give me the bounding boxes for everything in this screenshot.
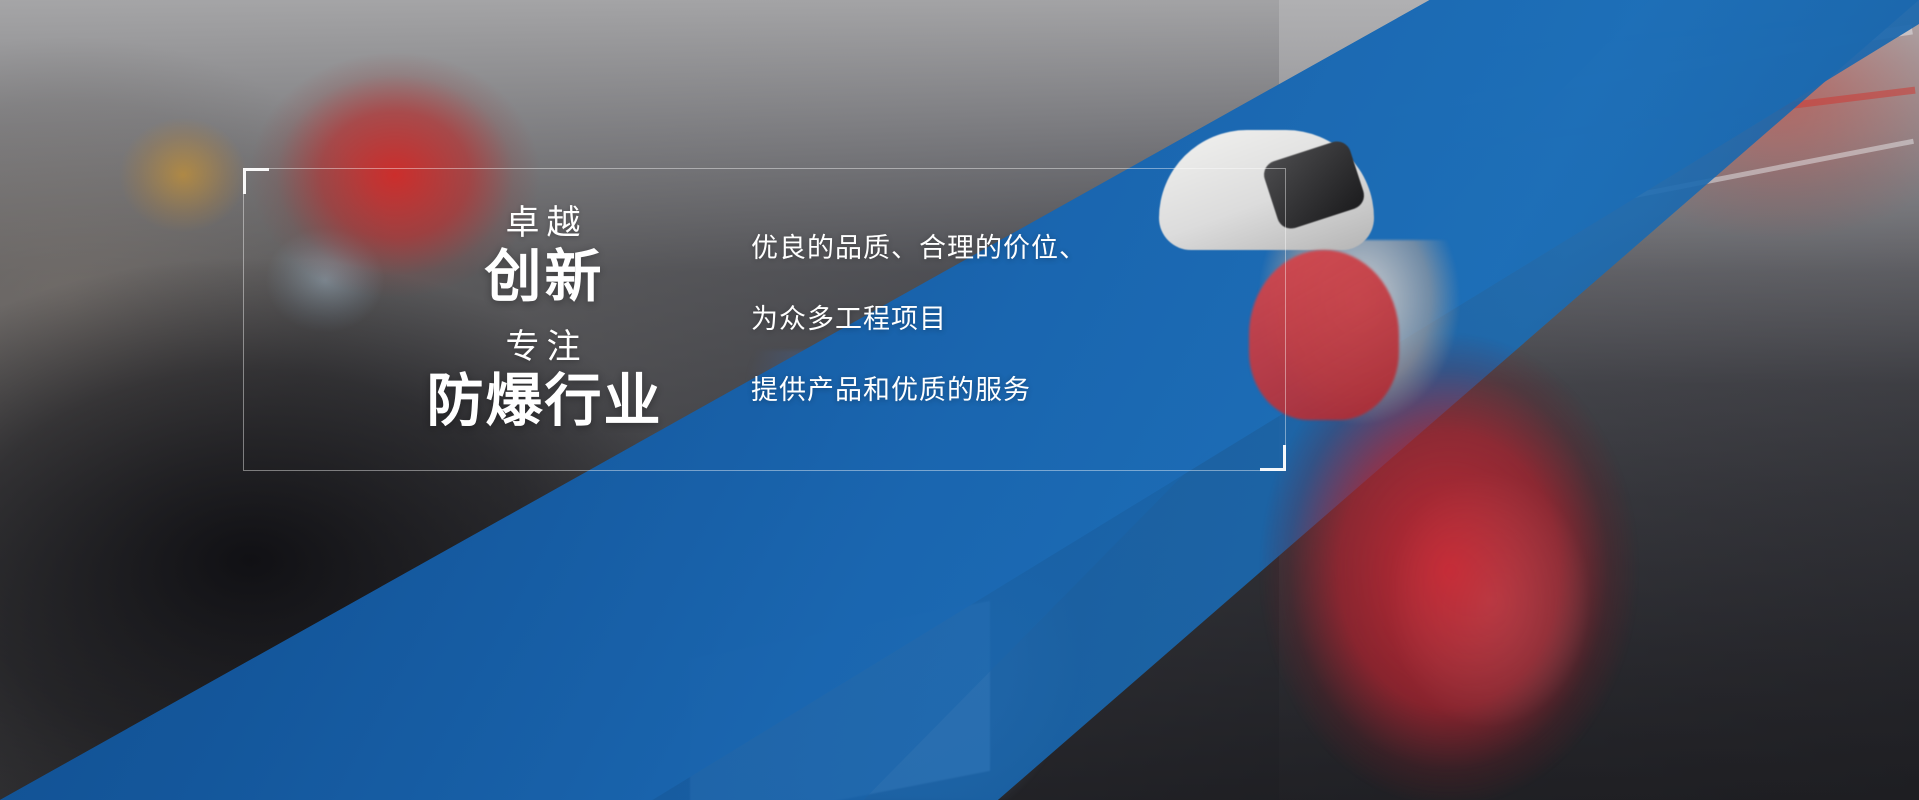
headline-line-3: 专注 [423,327,663,367]
headline-spacer [423,313,663,327]
hero-banner: 卓越 创新 专注 防爆行业 优良的品质、合理的价位、 为众多工程项目 提供产品和… [0,0,1919,800]
headline-block: 卓越 创新 专注 防爆行业 [243,203,663,436]
subcopy-line-3: 提供产品和优质的服务 [751,377,1087,404]
subcopy-block: 优良的品质、合理的价位、 为众多工程项目 提供产品和优质的服务 [751,235,1087,404]
headline-line-4: 防爆行业 [423,367,663,437]
headline-line-2: 创新 [423,243,663,313]
subcopy-line-2: 为众多工程项目 [751,306,1087,333]
headline-line-1: 卓越 [423,203,663,243]
banner-content: 卓越 创新 专注 防爆行业 优良的品质、合理的价位、 为众多工程项目 提供产品和… [243,168,1286,471]
subcopy-line-1: 优良的品质、合理的价位、 [751,235,1087,262]
